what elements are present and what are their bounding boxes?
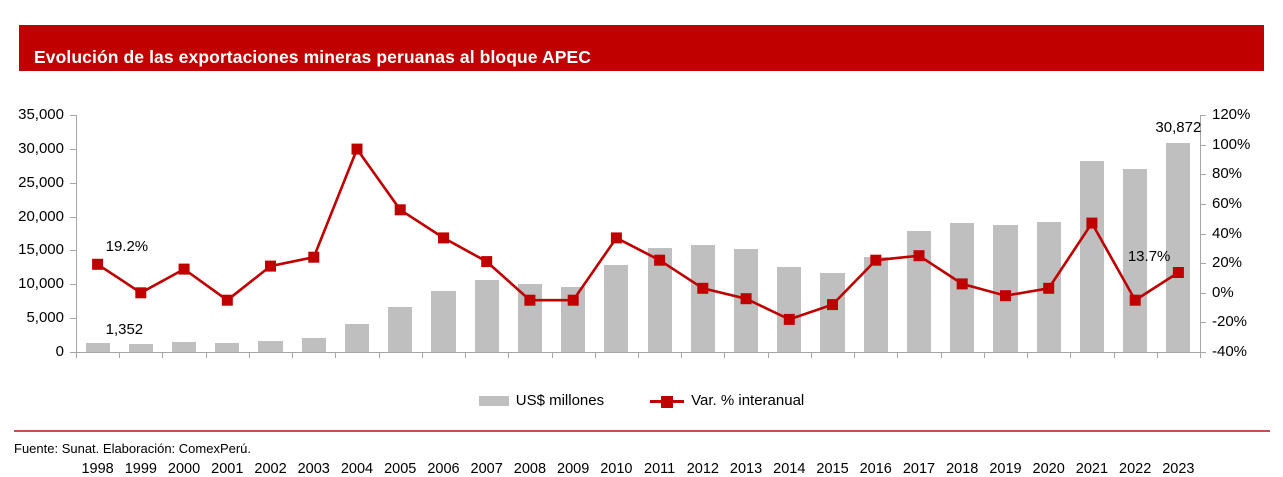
x-tick-label: 2022 — [1114, 461, 1157, 477]
legend-item-bars: US$ millones — [479, 392, 604, 409]
x-tick-label: 2019 — [984, 461, 1027, 477]
x-tick-label: 2008 — [508, 461, 551, 477]
line-marker — [395, 204, 406, 215]
data-label: 19.2% — [106, 238, 149, 255]
x-tick-label: 2023 — [1157, 461, 1200, 477]
x-tick-label: 2016 — [854, 461, 897, 477]
x-tick-label: 2010 — [595, 461, 638, 477]
line-marker — [1130, 295, 1141, 306]
x-tick-label: 2002 — [249, 461, 292, 477]
x-tick-label: 2020 — [1027, 461, 1070, 477]
line-marker — [827, 299, 838, 310]
line-marker — [438, 232, 449, 243]
line-marker — [784, 314, 795, 325]
line-marker — [352, 144, 363, 155]
x-tick-label: 2011 — [638, 461, 681, 477]
line-marker — [697, 283, 708, 294]
bar-swatch-icon — [479, 396, 509, 406]
line-marker — [611, 232, 622, 243]
line-marker — [957, 278, 968, 289]
line-marker — [914, 250, 925, 261]
x-tick-label: 2013 — [724, 461, 767, 477]
line-marker — [741, 293, 752, 304]
x-tick-label: 2015 — [811, 461, 854, 477]
x-tick-label: 2021 — [1070, 461, 1113, 477]
chart-legend: US$ millones Var. % interanual — [0, 392, 1283, 409]
line-marker — [308, 252, 319, 263]
line-marker — [524, 295, 535, 306]
line-marker — [265, 261, 276, 272]
line-marker — [1173, 267, 1184, 278]
line-marker — [179, 264, 190, 275]
chart-container: 05,00010,00015,00020,00025,00030,00035,0… — [0, 100, 1283, 400]
data-label: 13.7% — [1128, 248, 1171, 265]
source-note: Fuente: Sunat. Elaboración: ComexPerú. — [14, 441, 251, 456]
line-marker — [1000, 290, 1011, 301]
line-marker — [135, 287, 146, 298]
line-marker — [92, 259, 103, 270]
footer-divider — [14, 430, 1270, 432]
line-marker — [1086, 218, 1097, 229]
x-tick-label: 2007 — [465, 461, 508, 477]
x-tick-label: 2017 — [897, 461, 940, 477]
x-tick-label: 2000 — [162, 461, 205, 477]
legend-item-line: Var. % interanual — [650, 392, 804, 409]
x-tick-label: 2003 — [292, 461, 335, 477]
x-tick-label: 1999 — [119, 461, 162, 477]
line-series — [0, 100, 1283, 400]
line-marker — [568, 295, 579, 306]
x-tick-label: 2018 — [941, 461, 984, 477]
x-tick-label: 2006 — [422, 461, 465, 477]
x-tick-label: 2004 — [335, 461, 378, 477]
data-label: 1,352 — [106, 321, 144, 338]
x-tick-label: 2001 — [206, 461, 249, 477]
line-marker — [1043, 283, 1054, 294]
legend-label-line: Var. % interanual — [691, 392, 804, 409]
x-tick-label: 2009 — [552, 461, 595, 477]
line-marker — [481, 256, 492, 267]
line-marker — [654, 255, 665, 266]
x-tick-label: 1998 — [76, 461, 119, 477]
data-label: 30,872 — [1138, 119, 1218, 136]
page-title: Evolución de las exportaciones mineras p… — [34, 47, 591, 68]
x-tick-label: 2005 — [379, 461, 422, 477]
line-marker — [870, 255, 881, 266]
line-swatch-icon — [650, 394, 684, 408]
line-marker — [222, 295, 233, 306]
legend-label-bars: US$ millones — [516, 392, 604, 409]
x-tick-label: 2012 — [681, 461, 724, 477]
line-path — [98, 149, 1179, 319]
x-tick-label: 2014 — [768, 461, 811, 477]
